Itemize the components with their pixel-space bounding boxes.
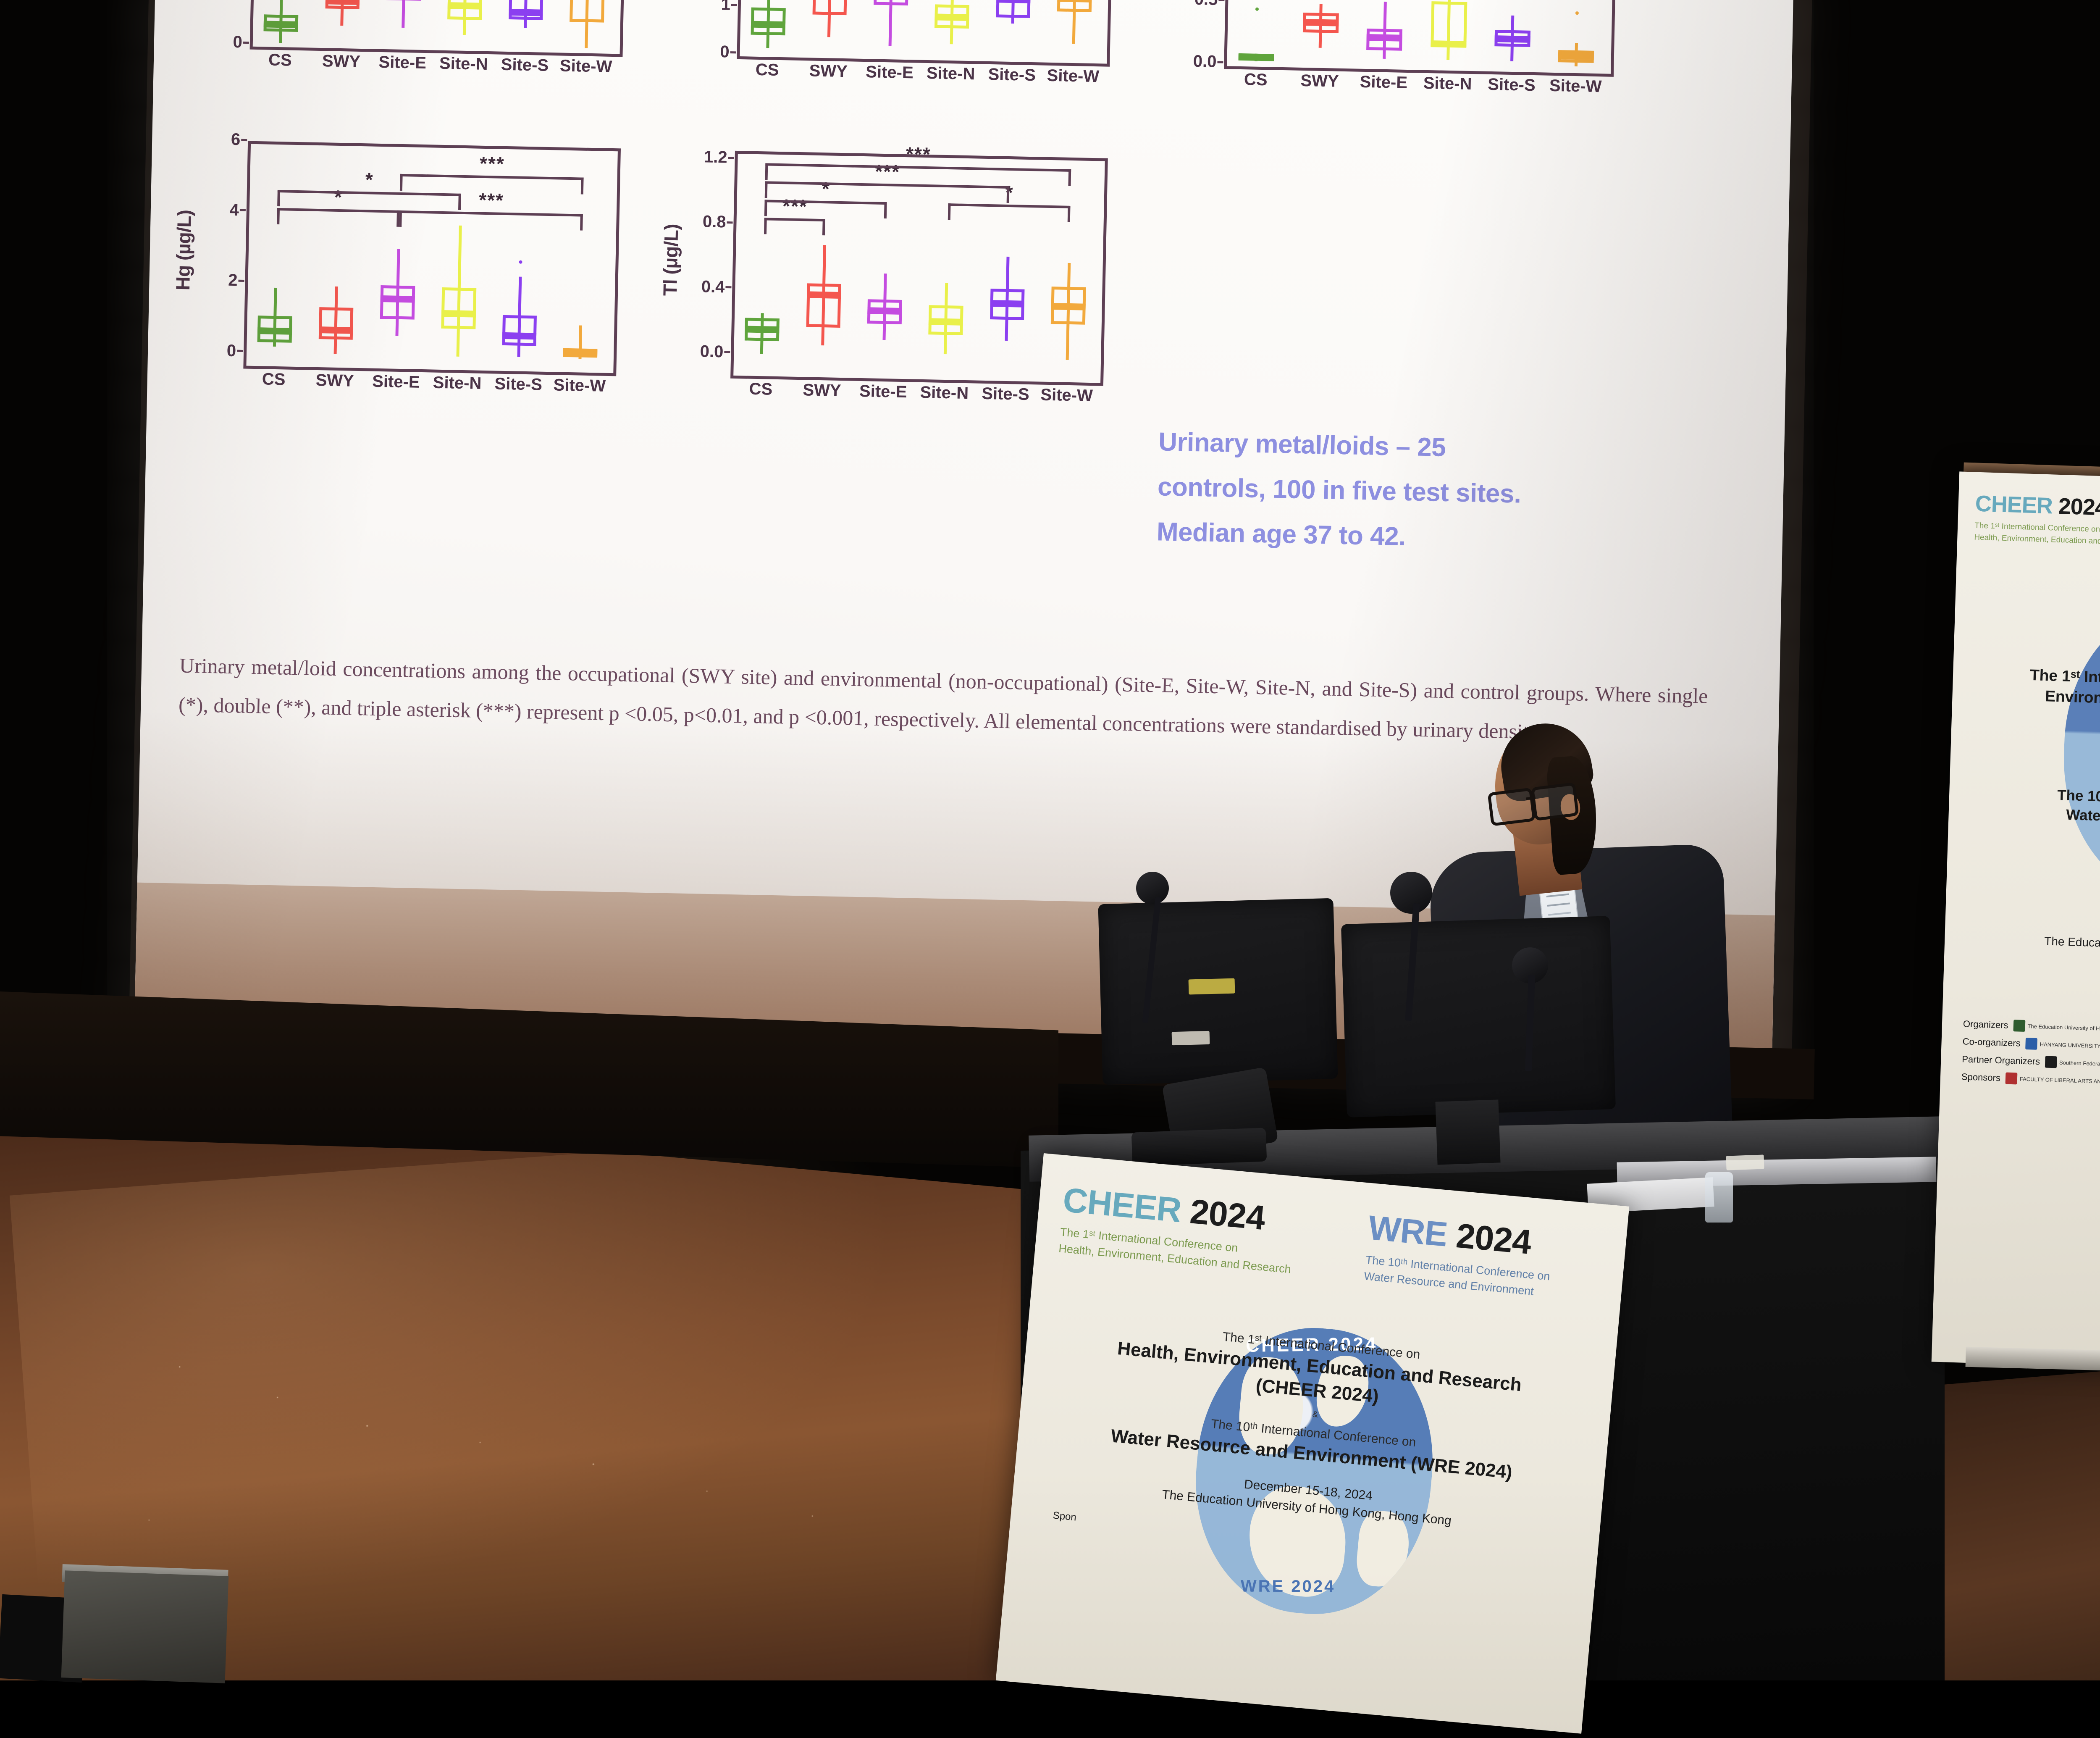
x-tick-5: Site-W [1042, 66, 1104, 87]
credit-logo-mark [2025, 1038, 2037, 1050]
x-tick-1: SWY [791, 381, 853, 401]
cheer-year: 2024 [1189, 1192, 1267, 1237]
boxplot-tl: CSSWYSite-ESite-NSite-SSite-WTl (µg/L)0.… [659, 145, 1110, 419]
monitor-right-stand [1435, 1099, 1500, 1165]
x-tick-2: Site-E [859, 63, 921, 83]
wre-year: 2024 [1454, 1217, 1533, 1262]
x-tick-5: Site-W [555, 56, 617, 76]
credit-logo-name: The Education University of Hong Kong [2027, 1023, 2100, 1032]
credit-label-1: Co-organizers [1962, 1036, 2021, 1049]
credit-logo-3-0: FACULTY OF LIBERAL ARTS AND SOCIAL SCIEN… [2005, 1073, 2100, 1089]
box-sb-SWY [1302, 0, 1342, 66]
x-tick-4: Site-S [488, 374, 549, 394]
x-tick-5: Site-W [549, 376, 611, 396]
x-tick-2: Site-E [372, 53, 433, 73]
monitor-left-sticker [1189, 978, 1235, 995]
credit-label-3: Sponsors [1961, 1071, 2001, 1083]
significance-stars-2: * [365, 168, 374, 191]
floor-monitor [61, 1570, 229, 1683]
banner-brand-cheer: CHEER 2024 The 1ˢᵗ International Confere… [1974, 491, 2100, 550]
slide-note-line-1: Urinary metal/loids – 25 [1158, 422, 1446, 468]
y-tick-0: 0.0 [685, 342, 724, 361]
box-hg-Site-E [379, 139, 418, 366]
box-sb-Site-N [1430, 0, 1470, 68]
equipment-label [1726, 1154, 1764, 1170]
boxplot-cd: CSSWYSite-ESite-NSite-SSite-WCd (µg/L)01… [666, 0, 1116, 100]
slide-note-line-3: Median age 37 to 42. [1156, 512, 1406, 557]
y-axis-title: Hg (µg/L) [170, 139, 197, 361]
credit-logo-0-0: The Education University of Hong Kong [2013, 1020, 2100, 1035]
boxplot-hg: CSSWYSite-ESite-NSite-SSite-WHg (µg/L)02… [172, 135, 622, 409]
banner-headline2-paren: (WRE 2024) [1960, 821, 2100, 855]
x-tick-2: Site-E [365, 372, 427, 392]
monitor-left-warning-label [1172, 1031, 1210, 1045]
y-tick-2: 0.8 [687, 212, 726, 232]
x-tick-0: CS [1223, 70, 1288, 90]
x-tick-5: Site-W [1543, 76, 1608, 97]
x-tick-3: Site-N [913, 383, 975, 403]
x-tick-4: Site-S [975, 384, 1037, 404]
box-tl-CS [744, 147, 782, 374]
monitor-right[interactable] [1341, 916, 1616, 1117]
box-tl-Site-W [1050, 153, 1089, 380]
podium-brand-wre: WRE 2024 The 10ᵗʰ International Conferen… [1338, 1206, 1651, 1310]
y-axis-title: Sb (µg/L) [1150, 0, 1177, 62]
credit-logo-mark [2005, 1073, 2017, 1085]
x-tick-1: SWY [798, 61, 859, 82]
podium-sign: CHEER 2024 The 1ˢᵗ International Confere… [996, 1153, 1629, 1734]
banner-venue: The Education University of Hong Kong, H… [1956, 932, 2100, 959]
y-axis-title: Tl (µg/L) [657, 149, 684, 371]
y-axis-title: Cd (µg/L) [664, 0, 690, 52]
credit-logo-mark [2045, 1056, 2057, 1068]
credit-logo-name: HANYANG UNIVERSITY [2040, 1041, 2100, 1049]
credit-logo-name: Southern Federal University [2059, 1059, 2100, 1068]
credit-row-3: SponsorsFACULTY OF LIBERAL ARTS AND SOCI… [1961, 1071, 2100, 1097]
box-hg-CS [257, 137, 296, 364]
x-tick-0: CS [730, 379, 792, 400]
box-cd-Site-N [934, 0, 973, 58]
boxplot-sb: CSSWYSite-ESite-NSite-SSite-WSb (µg/L)0.… [1153, 0, 1620, 110]
x-tick-4: Site-S [494, 55, 556, 75]
significance-bracket-1 [764, 200, 887, 218]
slide-caption: Urinary metal/loid concentrations among … [178, 646, 1708, 755]
box-mo-Site-S [508, 0, 546, 50]
credit-logo-2-0: Southern Federal University [2045, 1056, 2100, 1070]
boxplot-mo: CSSWYSite-ESite-NSite-SSite-WMo (µg/L)01… [178, 0, 629, 90]
box-mo-Site-W [569, 0, 608, 51]
credit-label-2: Partner Organizers [1962, 1054, 2040, 1067]
banner-cheer-wordmark: CHEER [1975, 491, 2053, 519]
box-mo-CS [263, 0, 302, 45]
box-cd-Site-E [873, 0, 911, 57]
box-sb-Site-E [1366, 0, 1406, 67]
y-tick-0: 0.0 [1178, 52, 1217, 71]
significance-stars-4: *** [906, 142, 932, 166]
x-tick-3: Site-N [426, 373, 488, 393]
significance-bracket-0 [764, 218, 825, 236]
y-tick-0: 0 [197, 341, 236, 360]
box-mo-Site-N [447, 0, 486, 48]
banner-globe-logo [2060, 601, 2100, 903]
x-tick-4: Site-S [981, 65, 1043, 85]
water-bottle [1705, 1172, 1733, 1223]
significance-stars-3: *** [480, 152, 505, 175]
y-tick-3: 1.2 [688, 147, 727, 167]
y-tick-1: 0.5 [1179, 0, 1218, 9]
significance-bracket-0 [277, 208, 399, 227]
x-tick-3: Site-N [433, 54, 495, 74]
y-tick-3: 6 [202, 129, 241, 149]
credit-logo-name: FACULTY OF LIBERAL ARTS AND SOCIAL SCIEN… [2020, 1075, 2100, 1086]
y-tick-1: 2 [199, 271, 238, 290]
box-mo-SWY [325, 0, 363, 46]
y-tick-1: 0.4 [686, 277, 725, 297]
credit-logo-mark [2013, 1020, 2025, 1032]
x-tick-5: Site-W [1036, 385, 1097, 405]
box-sb-Site-S [1494, 0, 1534, 69]
x-tick-0: CS [249, 50, 311, 71]
box-cd-Site-W [1056, 0, 1095, 60]
box-sb-Site-W [1558, 0, 1598, 71]
podium-brand-cheer: CHEER 2024 The 1ˢᵗ International Confere… [1058, 1181, 1345, 1282]
y-tick-1: 1 [692, 0, 731, 14]
credit-label-0: Organizers [1963, 1018, 2008, 1031]
x-tick-0: CS [736, 60, 798, 80]
credit-logo-1-0: HANYANG UNIVERSITY [2025, 1038, 2100, 1052]
box-mo-Site-E [386, 0, 424, 47]
x-tick-2: Site-E [1352, 72, 1416, 92]
cheer-wordmark: CHEER [1061, 1181, 1183, 1230]
x-tick-0: CS [243, 369, 304, 389]
box-cd-CS [751, 0, 789, 54]
y-tick-0: 0 [203, 32, 242, 52]
x-tick-4: Site-S [1479, 75, 1543, 95]
box-hg-SWY [318, 138, 357, 365]
y-tick-2: 4 [200, 200, 239, 220]
x-tick-3: Site-N [1415, 74, 1480, 94]
y-axis-title: Mo (µg/L) [176, 0, 203, 42]
significance-bracket-2 [948, 203, 1071, 222]
box-cd-Site-S [995, 0, 1034, 59]
slide-note-line-2: controls, 100 in five test sites. [1157, 467, 1521, 514]
x-tick-2: Site-E [852, 382, 914, 402]
podium-globe-bottom-text: WRE 2024 [1241, 1577, 1336, 1596]
box-sb-CS [1238, 0, 1278, 64]
conference-hall-scene: CSSWYSite-ESite-NSite-SSite-WCSSWYSite-E… [0, 0, 2100, 1680]
x-tick-3: Site-N [920, 64, 982, 84]
box-cd-SWY [811, 0, 850, 55]
y-tick-0: 0 [690, 42, 730, 62]
banner-credits-block: OrganizersThe Education University of Ho… [1940, 1018, 2100, 1104]
x-tick-1: SWY [304, 371, 366, 391]
x-tick-1: SWY [1287, 71, 1352, 91]
rollup-banner: CHEER 2024 The 1ˢᵗ International Confere… [1932, 471, 2100, 1376]
monitor-left-base [1131, 1128, 1267, 1166]
banner-cheer-year: 2024 [2058, 494, 2100, 521]
wre-wordmark: WRE [1367, 1209, 1449, 1254]
x-tick-1: SWY [310, 52, 372, 72]
